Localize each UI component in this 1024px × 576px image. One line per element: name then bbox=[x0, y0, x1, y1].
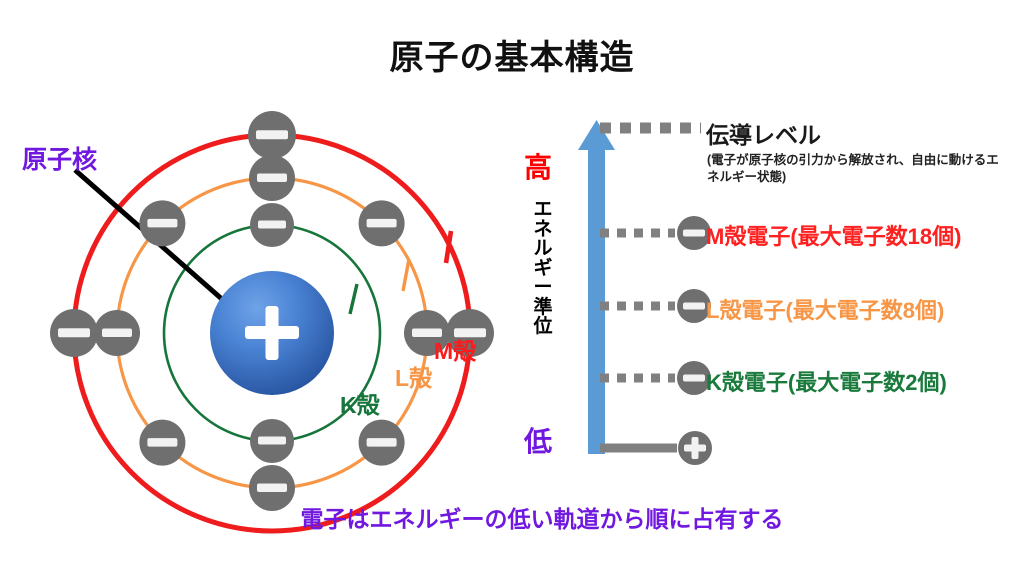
axis-label-low: 低 bbox=[524, 420, 552, 460]
page-title: 原子の基本構造 bbox=[0, 30, 1024, 79]
level-label-l-shell: L殻電子(最大電子数8個) bbox=[706, 293, 944, 325]
electron-k-2 bbox=[250, 419, 294, 463]
shell-label-m: M殻 bbox=[434, 332, 476, 366]
electron-l-2 bbox=[359, 200, 405, 246]
electron-l-6 bbox=[139, 420, 185, 466]
axis-title-energy-level: エネルギー準位 bbox=[528, 200, 558, 337]
electron-m-1 bbox=[248, 111, 296, 159]
electron-l-4 bbox=[359, 420, 405, 466]
shell-label-k: K殻 bbox=[340, 386, 380, 420]
level-label-m-shell: M殻電子(最大電子数18個) bbox=[706, 219, 961, 251]
shell-tick-l bbox=[403, 259, 409, 291]
electron-l-8 bbox=[139, 200, 185, 246]
axis-label-high: 高 bbox=[524, 146, 552, 186]
diagram-canvas: 原子の基本構造 bbox=[0, 0, 1024, 576]
level-label-conduction: 伝導レベル bbox=[706, 116, 821, 150]
nucleus-plus-vertical bbox=[266, 306, 279, 360]
nucleus-label: 原子核 bbox=[22, 140, 97, 176]
shell-tick-k bbox=[350, 284, 357, 314]
level-label-k-shell: K殻電子(最大電子数2個) bbox=[706, 365, 947, 397]
footer-note: 電子はエネルギーの低い軌道から順に占有する bbox=[0, 500, 1024, 534]
level-marker-nucleus bbox=[678, 431, 712, 465]
level-sublabel-conduction: (電子が原子核の引力から解放され、自由に動けるエネルギー状態) bbox=[707, 152, 1007, 187]
electron-m-4 bbox=[50, 309, 98, 357]
electron-l-1 bbox=[249, 155, 295, 201]
shell-label-l: L殻 bbox=[395, 359, 432, 393]
energy-axis-arrow bbox=[578, 120, 615, 454]
electron-k-1 bbox=[250, 203, 294, 247]
electron-l-7 bbox=[94, 310, 140, 356]
